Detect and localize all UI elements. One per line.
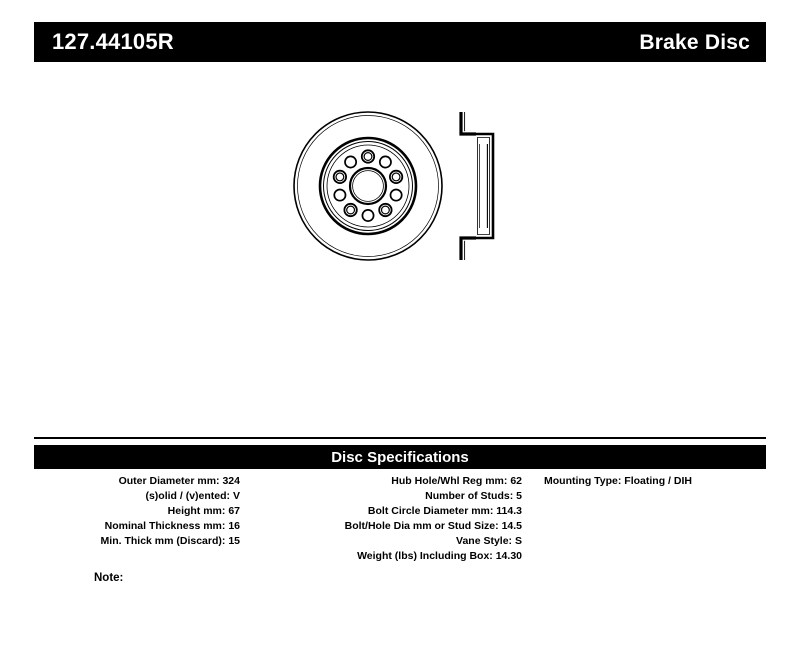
spec-column-right: Mounting Type: Floating / DIH (532, 474, 782, 489)
spec-label: Nominal Thickness mm: (105, 520, 226, 532)
spec-row: Hub Hole/Whl Reg mm: 62 (250, 474, 522, 489)
spec-row: Min. Thick mm (Discard): 15 (18, 534, 240, 549)
spec-row: Mounting Type: Floating / DIH (532, 474, 782, 489)
spec-label: Bolt/Hole Dia mm or Stud Size: (345, 520, 499, 532)
spec-label: (s)olid / (v)ented: (145, 490, 230, 502)
spec-row: Nominal Thickness mm: 16 (18, 519, 240, 534)
spec-value: S (515, 535, 522, 547)
spec-row: Outer Diameter mm: 324 (18, 474, 240, 489)
part-number-label: 127.44105R (52, 31, 174, 53)
brake-disc-drawing (280, 98, 520, 283)
spec-row: Weight (lbs) Including Box: 14.30 (250, 549, 522, 564)
spec-section-title: Disc Specifications (331, 450, 469, 465)
spec-column-middle: Hub Hole/Whl Reg mm: 62 Number of Studs:… (250, 474, 522, 564)
spec-row: (s)olid / (v)ented: V (18, 489, 240, 504)
spec-row: Number of Studs: 5 (250, 489, 522, 504)
spec-value: 16 (228, 520, 240, 532)
spec-section-header: Disc Specifications (34, 445, 766, 469)
note-label: Note: (94, 572, 123, 584)
spec-column-left: Outer Diameter mm: 324 (s)olid / (v)ente… (18, 474, 240, 549)
spec-label: Weight (lbs) Including Box: (357, 550, 493, 562)
spec-label: Hub Hole/Whl Reg mm: (391, 475, 507, 487)
spec-value: V (233, 490, 240, 502)
spec-label: Number of Studs: (425, 490, 513, 502)
spec-label: Height mm: (168, 505, 226, 517)
header-bar: 127.44105R Brake Disc (34, 22, 766, 62)
spec-value: 62 (510, 475, 522, 487)
brake-disc-face-view (294, 112, 442, 260)
spec-value: 14.30 (496, 550, 522, 562)
spec-label: Outer Diameter mm: (119, 475, 220, 487)
spec-value: Floating / DIH (624, 475, 692, 487)
note-area: Note: (94, 571, 127, 585)
brake-disc-side-profile-view (461, 112, 493, 260)
spec-label: Mounting Type: (544, 475, 621, 487)
spec-value: 67 (228, 505, 240, 517)
product-type-label: Brake Disc (639, 32, 750, 53)
spec-columns: Outer Diameter mm: 324 (s)olid / (v)ente… (18, 474, 782, 564)
stud-hole-group (334, 150, 403, 216)
spec-value: 14.5 (502, 520, 522, 532)
spec-value: 114.3 (496, 505, 522, 517)
spec-label: Bolt Circle Diameter mm: (368, 505, 493, 517)
spec-value: 5 (516, 490, 522, 502)
spec-row: Vane Style: S (250, 534, 522, 549)
spec-value: 324 (222, 475, 240, 487)
spec-row: Bolt Circle Diameter mm: 114.3 (250, 504, 522, 519)
spec-section-divider (34, 437, 766, 439)
note-text (123, 572, 127, 584)
spec-row: Bolt/Hole Dia mm or Stud Size: 14.5 (250, 519, 522, 534)
spec-label: Vane Style: (456, 535, 512, 547)
product-illustration (280, 98, 520, 283)
spec-label: Min. Thick mm (Discard): (101, 535, 226, 547)
spec-value: 15 (228, 535, 240, 547)
spec-row: Height mm: 67 (18, 504, 240, 519)
